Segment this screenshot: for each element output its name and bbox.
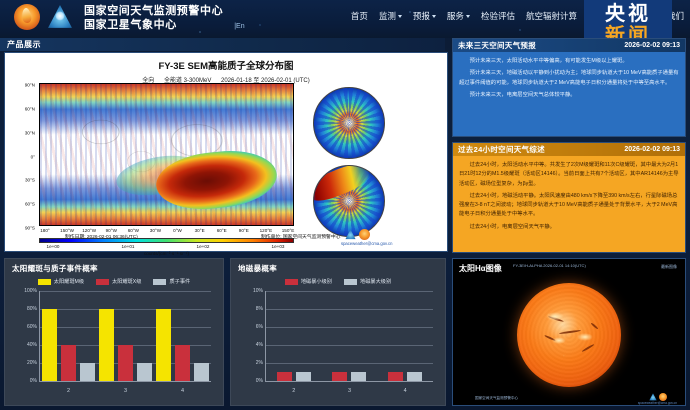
forecast-paragraph: 预计未来三天，地磁活动以平静到小扰动为主；地球同步轨道大于10 MeV高能质子通…	[459, 69, 679, 88]
legend-label: 太阳耀斑X级	[112, 278, 141, 285]
geomag-chart-title: 地磁暴概率	[231, 259, 445, 274]
production-date: 制作日期: 2026-02-01 06:36(UTC)	[65, 233, 138, 240]
bar-group	[99, 291, 152, 381]
flare-chart-title: 太阳耀斑与质子事件概率	[5, 259, 223, 274]
y-tick-label: 60°S	[25, 202, 35, 207]
org-name-line2: 国家卫星气象中心	[84, 18, 223, 32]
sun-panel-title: 太阳Hα图像	[459, 263, 502, 274]
legend-swatch	[285, 279, 298, 285]
geomagnetic-storm-probability-card[interactable]: 地磁暴概率 地磁暴小级别地磁暴大级别 0%2%4%6%8%10%234	[230, 258, 446, 406]
legend-item-1[interactable]: 太阳耀斑X级	[96, 278, 141, 285]
gridline	[265, 381, 433, 382]
nav-item-1[interactable]: 监测	[379, 10, 402, 22]
x-axis-line	[265, 381, 433, 382]
product-chart-title: FY-3E SEM高能质子全球分布图	[5, 58, 447, 72]
three-day-forecast-title: 未来三天空间天气预报	[458, 40, 536, 51]
bar[interactable]	[332, 372, 347, 381]
y-axis-label: 20%	[13, 360, 37, 366]
three-day-forecast-panel[interactable]: 未来三天空间天气预报 2026-02-02 09:13 预计未来三天，太阳活动水…	[452, 38, 686, 137]
bar-groups	[40, 291, 211, 381]
flare-chart-legend[interactable]: 太阳耀斑M级太阳耀斑X级质子事件	[5, 278, 223, 285]
nav-item-2[interactable]: 预报	[413, 10, 436, 22]
bar[interactable]	[137, 363, 152, 381]
legend-label: 质子事件	[169, 278, 190, 285]
section-bar-products: 产品展示	[0, 38, 445, 51]
bar[interactable]	[42, 309, 57, 381]
y-axis-label: 6%	[239, 324, 263, 330]
nsmc-triangle-logo-icon	[47, 4, 75, 32]
y-axis-label: 8%	[239, 306, 263, 312]
y-tick-label: 30°S	[25, 178, 35, 183]
language-switch[interactable]: |En	[234, 23, 244, 32]
space-weather-dashboard: 国家空间天气监测预警中心 国家卫星气象中心 |En 首页监测预报服务检验评估航空…	[0, 0, 690, 410]
review-paragraph: 过去24小时，太阳活动水平中等。共发生了2次M级耀斑和11次C级耀斑，其中最大为…	[459, 161, 679, 189]
x-axis-labels: 234	[266, 388, 433, 394]
bar[interactable]	[156, 309, 171, 381]
nav-item-0[interactable]: 首页	[351, 10, 368, 22]
sun-nsmc-icon	[649, 393, 657, 401]
bar[interactable]	[99, 309, 114, 381]
y-axis-label: 10%	[239, 288, 263, 294]
y-axis-label: 80%	[13, 306, 37, 312]
bar[interactable]	[351, 372, 366, 381]
bar-group	[42, 291, 95, 381]
watermark-line-1: 央视	[605, 4, 651, 24]
nav-item-label: 检验评估	[481, 10, 515, 22]
past-24h-review-header: 过去24小时空间天气综述 2026-02-02 09:13	[453, 143, 685, 156]
lang-en-link[interactable]: En	[236, 23, 245, 30]
global-heatmap	[39, 83, 294, 226]
three-day-forecast-body: 预计未来三天，太阳活动水平中等偏高，有可能发生M级以上耀斑。预计未来三天，地磁活…	[453, 52, 685, 136]
y-tick-label: 0°	[31, 154, 35, 159]
bar-group	[156, 291, 209, 381]
bar[interactable]	[407, 372, 422, 381]
map-y-axis: 90°N60°N30°N0°30°S60°S90°S	[5, 83, 37, 226]
legend-swatch	[38, 279, 51, 285]
sun-panel-meta-right: 最新图像	[661, 264, 677, 270]
legend-swatch	[153, 279, 166, 285]
organization-names: 国家空间天气监测预警中心 国家卫星气象中心	[84, 4, 223, 32]
org-name-line1: 国家空间天气监测预警中心	[84, 4, 223, 18]
legend-label: 太阳耀斑M级	[54, 278, 84, 285]
x-tick-label: 4	[377, 388, 433, 394]
y-axis-label: 60%	[13, 324, 37, 330]
footer-email: spaceweather@cma.gov.cn	[341, 241, 392, 246]
legend-item-2[interactable]: 质子事件	[153, 278, 190, 285]
three-day-forecast-header: 未来三天空间天气预报 2026-02-02 09:13	[453, 39, 685, 52]
bar[interactable]	[175, 345, 190, 381]
nav-item-3[interactable]: 服务	[447, 10, 470, 22]
cctv-news-watermark: 央视 新闻	[584, 0, 672, 38]
product-card-footer: 制作日期: 2026-02-01 06:36(UTC) 制作单位: 国家空间天气…	[5, 231, 449, 253]
sun-panel-meta: FY-3E/H-ALPHA 2026-02-01 14:10(UTC)	[513, 263, 586, 269]
y-axis-label: 4%	[239, 342, 263, 348]
sun-cma-icon	[659, 393, 667, 401]
bar[interactable]	[296, 372, 311, 381]
bar-group	[388, 291, 422, 381]
legend-item-0[interactable]: 太阳耀斑M级	[38, 278, 84, 285]
nav-item-5[interactable]: 航空辐射计算	[526, 10, 577, 22]
y-tick-label: 90°S	[25, 226, 35, 231]
legend-swatch	[344, 279, 357, 285]
bar[interactable]	[61, 345, 76, 381]
footer-logos	[345, 229, 370, 240]
y-tick-label: 90°N	[25, 83, 35, 88]
y-axis-label: 0%	[13, 378, 37, 384]
product-display-card[interactable]: FY-3E SEM高能质子全球分布图 全向 全能道 3-300MeV 2026-…	[4, 52, 448, 252]
gridline	[39, 381, 211, 382]
global-proton-plot: 90°N60°N30°N0°30°S60°S90°S 180°150°W120°…	[5, 81, 449, 253]
legend-swatch	[96, 279, 109, 285]
x-tick-label: 2	[40, 388, 97, 394]
bar[interactable]	[388, 372, 403, 381]
chevron-down-icon	[432, 15, 436, 18]
bar[interactable]	[118, 345, 133, 381]
x-tick-label: 4	[154, 388, 211, 394]
bar[interactable]	[277, 372, 292, 381]
flare-bar-chart: 0%20%40%60%80%100%234	[13, 291, 215, 395]
footer-nsmc-icon	[345, 229, 356, 240]
nav-item-label: 服务	[447, 10, 464, 22]
production-unit: 制作单位: 国家空间天气监测预警中心	[261, 233, 340, 240]
solar-disk-image	[517, 283, 621, 387]
x-tick-label: 3	[97, 388, 154, 394]
nav-item-label: 航空辐射计算	[526, 10, 577, 22]
bar-group	[332, 291, 366, 381]
brand-logos[interactable]: 国家空间天气监测预警中心 国家卫星气象中心 |En	[14, 4, 245, 32]
nav-item-label: 预报	[413, 10, 430, 22]
bar[interactable]	[194, 363, 209, 381]
section-title: 产品展示	[7, 39, 41, 50]
y-axis-label: 2%	[239, 360, 263, 366]
y-axis-label: 100%	[13, 288, 37, 294]
flare-proton-probability-card[interactable]: 太阳耀斑与质子事件概率 太阳耀斑M级太阳耀斑X级质子事件 0%20%40%60%…	[4, 258, 224, 406]
cma-flame-logo-icon	[14, 4, 42, 32]
forecast-paragraph: 预计未来三天，电离层空间天气总体较平静。	[459, 91, 679, 100]
geomag-chart-legend[interactable]: 地磁暴小级别地磁暴大级别	[231, 278, 445, 285]
x-axis-line	[39, 381, 211, 382]
south-polar-plot	[313, 165, 385, 237]
site-header: 国家空间天气监测预警中心 国家卫星气象中心 |En 首页监测预报服务检验评估航空…	[0, 0, 690, 38]
legend-item-0[interactable]: 地磁暴小级别	[285, 278, 332, 285]
past-24h-review-timestamp: 2026-02-02 09:13	[624, 146, 680, 153]
legend-item-1[interactable]: 地磁暴大级别	[344, 278, 391, 285]
nav-item-label: 监测	[379, 10, 396, 22]
past-24h-review-title: 过去24小时空间天气综述	[458, 144, 545, 155]
nav-item-4[interactable]: 检验评估	[481, 10, 515, 22]
past-24h-review-panel[interactable]: 过去24小时空间天气综述 2026-02-02 09:13 过去24小时，太阳活…	[452, 142, 686, 253]
north-polar-plot	[313, 87, 385, 159]
forecast-paragraph: 预计未来三天，太阳活动水平中等偏高，有可能发生M级以上耀斑。	[459, 57, 679, 66]
review-paragraph: 过去24小时，地磁活动平静。太阳风速度由480 km/s下降至390 km/s左…	[459, 192, 679, 220]
y-tick-label: 30°N	[25, 130, 35, 135]
sun-panel-footer: 国家空间天气监测预警中心	[475, 396, 518, 401]
x-tick-label: 3	[322, 388, 378, 394]
sun-panel-email: spaceweather@cma.gov.cn	[638, 401, 677, 405]
legend-label: 地磁暴大级别	[360, 278, 391, 285]
legend-label: 地磁暴小级别	[301, 278, 332, 285]
bar-group	[277, 291, 311, 381]
bar[interactable]	[80, 363, 95, 381]
bar-groups	[266, 291, 433, 381]
y-tick-label: 60°N	[25, 106, 35, 111]
geomag-bar-chart: 0%2%4%6%8%10%234	[239, 291, 437, 395]
x-axis-labels: 234	[40, 388, 211, 394]
x-tick-label: 2	[266, 388, 322, 394]
chevron-down-icon	[398, 15, 402, 18]
nav-item-label: 首页	[351, 10, 368, 22]
solar-halpha-image-card[interactable]: 太阳Hα图像 FY-3E/H-ALPHA 2026-02-01 14:10(UT…	[452, 258, 686, 406]
sun-panel-logos	[649, 393, 667, 401]
y-axis-label: 0%	[239, 378, 263, 384]
watermark-line-2: 新闻	[605, 26, 651, 38]
review-paragraph: 过去24小时，电离层空间天气平静。	[459, 223, 679, 232]
y-axis-label: 40%	[13, 342, 37, 348]
past-24h-review-body: 过去24小时，太阳活动水平中等。共发生了2次M级耀斑和11次C级耀斑，其中最大为…	[453, 156, 685, 252]
chevron-down-icon	[466, 15, 470, 18]
three-day-forecast-timestamp: 2026-02-02 09:13	[624, 42, 680, 49]
footer-cma-icon	[359, 229, 370, 240]
